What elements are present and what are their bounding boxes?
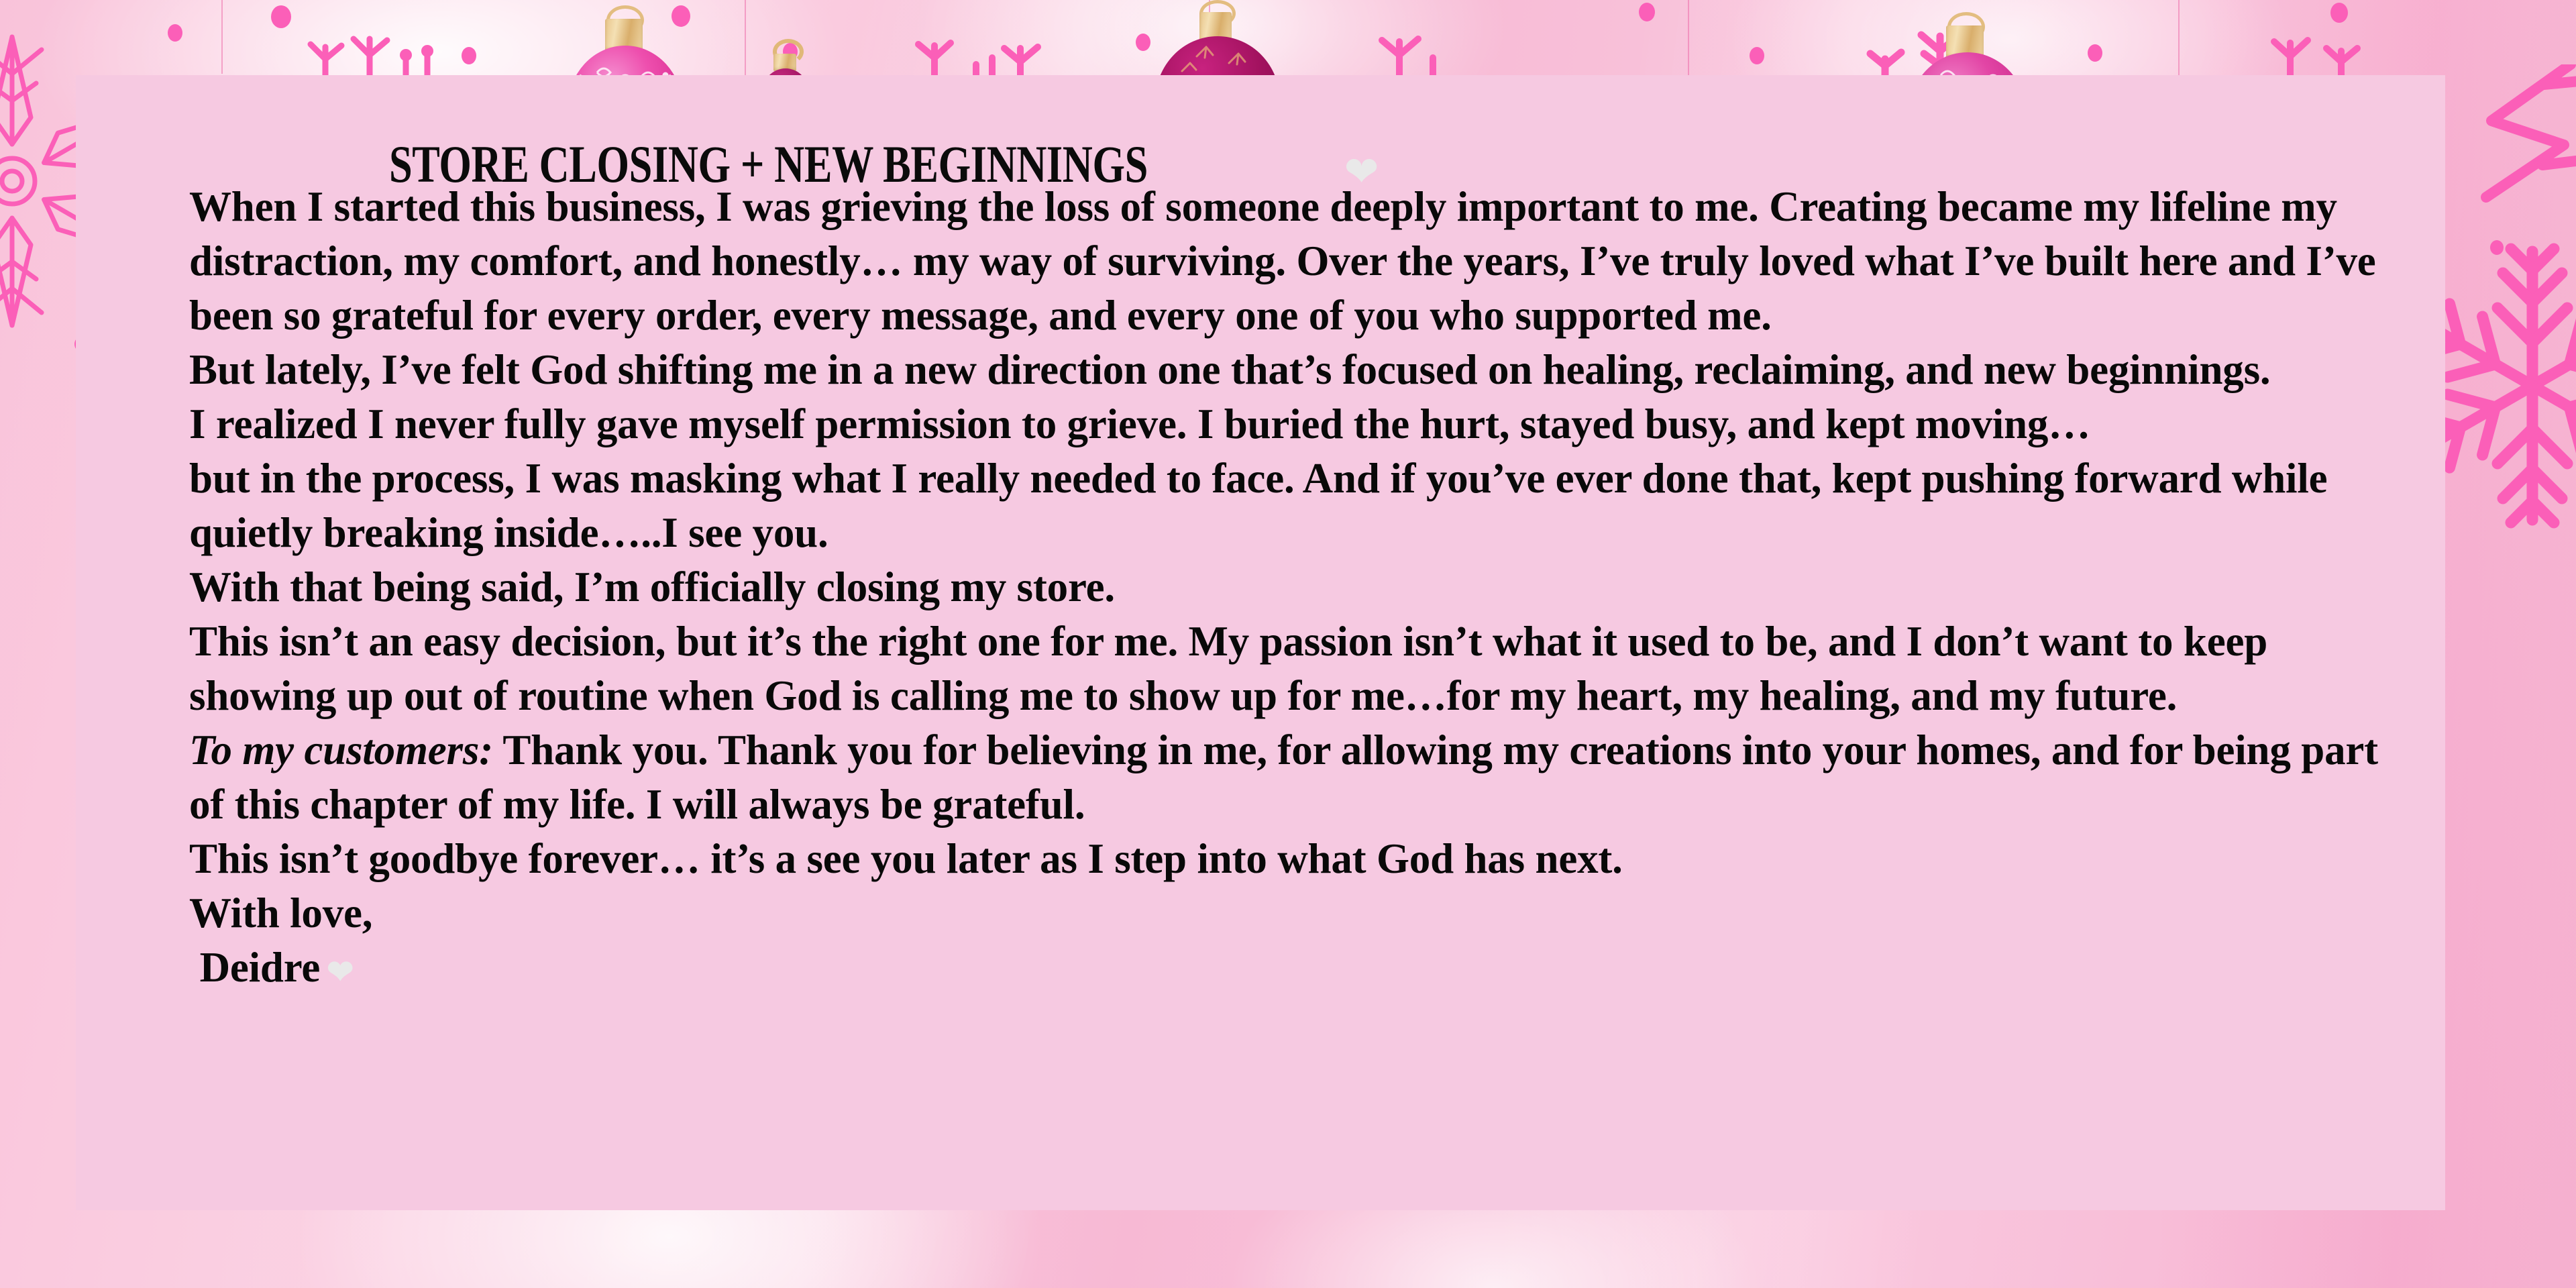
decorative-dot <box>271 5 291 28</box>
decorative-dot <box>2088 44 2102 62</box>
paragraph-intro: When I started this business, I was grie… <box>189 180 2396 343</box>
ornament-dark-right <box>1147 0 1288 80</box>
customers-label: To my customers: <box>189 727 493 773</box>
customers-text: Thank you. Thank you for believing in me… <box>189 727 2389 828</box>
paragraph-farewell: This isn’t goodbye forever… it’s a see y… <box>189 832 2396 886</box>
snowflake-right-top-icon <box>2463 64 2576 225</box>
paragraph-grieve: I realized I never fully gave myself per… <box>189 397 2396 451</box>
announcement-card: STORE CLOSING + NEW BEGINNINGS❤ When I s… <box>76 75 2445 1210</box>
signature-line: Deidre❤ <box>189 941 2396 995</box>
paragraph-decision: This isn’t an easy decision, but it’s th… <box>189 614 2396 723</box>
paragraph-masking: but in the process, I was masking what I… <box>189 451 2396 560</box>
decorative-dot <box>2330 3 2348 23</box>
paragraph-shift: But lately, I’ve felt God shifting me in… <box>189 343 2396 397</box>
card-content: STORE CLOSING + NEW BEGINNINGS❤ When I s… <box>76 75 2445 1210</box>
paragraph-closing-announcement: With that being said, I’m officially clo… <box>189 560 2396 614</box>
ornament-small-mid <box>759 39 813 80</box>
white-heart-icon: ❤ <box>327 957 354 989</box>
paragraph-signoff: With love, <box>189 886 2396 941</box>
decorative-dot <box>1750 47 1764 64</box>
ornament-large-right <box>1907 0 2035 80</box>
paragraph-customers: To my customers: Thank you. Thank you fo… <box>189 723 2396 832</box>
ornament-large-left <box>562 0 690 80</box>
decorative-dot <box>1639 3 1655 21</box>
signature-name: Deidre <box>189 944 320 991</box>
letter-body: When I started this business, I was grie… <box>189 180 2396 995</box>
